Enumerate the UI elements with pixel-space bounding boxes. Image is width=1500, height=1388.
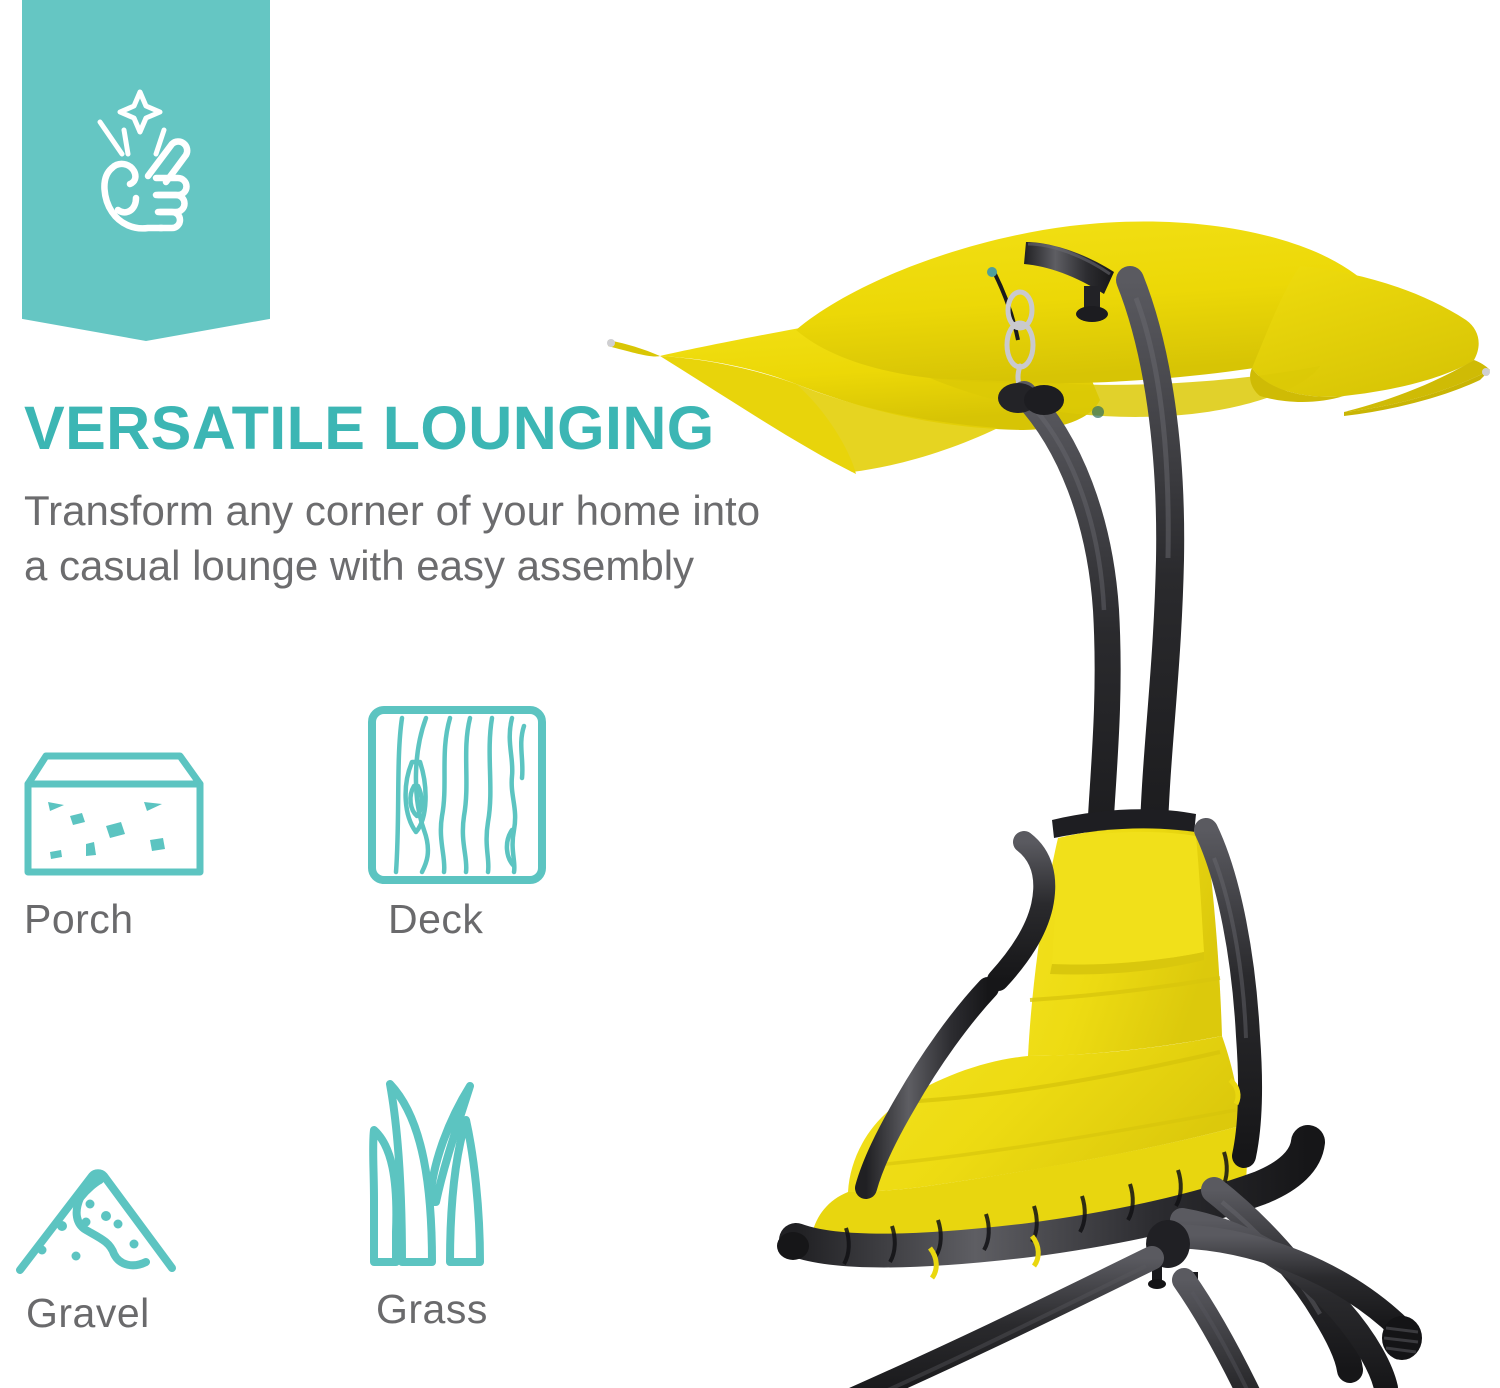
feature-badge [22, 0, 270, 341]
surface-item-deck: Deck [340, 668, 640, 998]
headrest-pillow [1052, 832, 1204, 965]
surface-label-deck: Deck [388, 896, 483, 943]
surface-item-grass: Grass [340, 1058, 640, 1388]
surface-icon-grid: Porch [0, 668, 640, 1368]
stand-leg-front-left [838, 1258, 1152, 1388]
gravel-mound-icon [14, 1058, 244, 1280]
grass-blades-icon [362, 1058, 592, 1280]
product-feature-infographic: VERSATILE LOUNGING Transform any corner … [0, 0, 1500, 1388]
stand-leg-front-right [1184, 1280, 1300, 1388]
snap-fingers-icon [78, 78, 214, 238]
product-image-hanging-chaise-lounge [600, 180, 1500, 1388]
surface-label-porch: Porch [24, 896, 134, 943]
seat-frame-end-cap [777, 1232, 809, 1260]
surface-item-gravel: Gravel [0, 1058, 300, 1388]
surface-label-grass: Grass [376, 1286, 488, 1333]
concrete-paver-icon [14, 668, 244, 890]
stand-foot-right [1382, 1316, 1422, 1360]
surface-item-porch: Porch [0, 668, 300, 998]
wood-grain-icon [362, 668, 592, 890]
surface-label-gravel: Gravel [26, 1290, 150, 1337]
